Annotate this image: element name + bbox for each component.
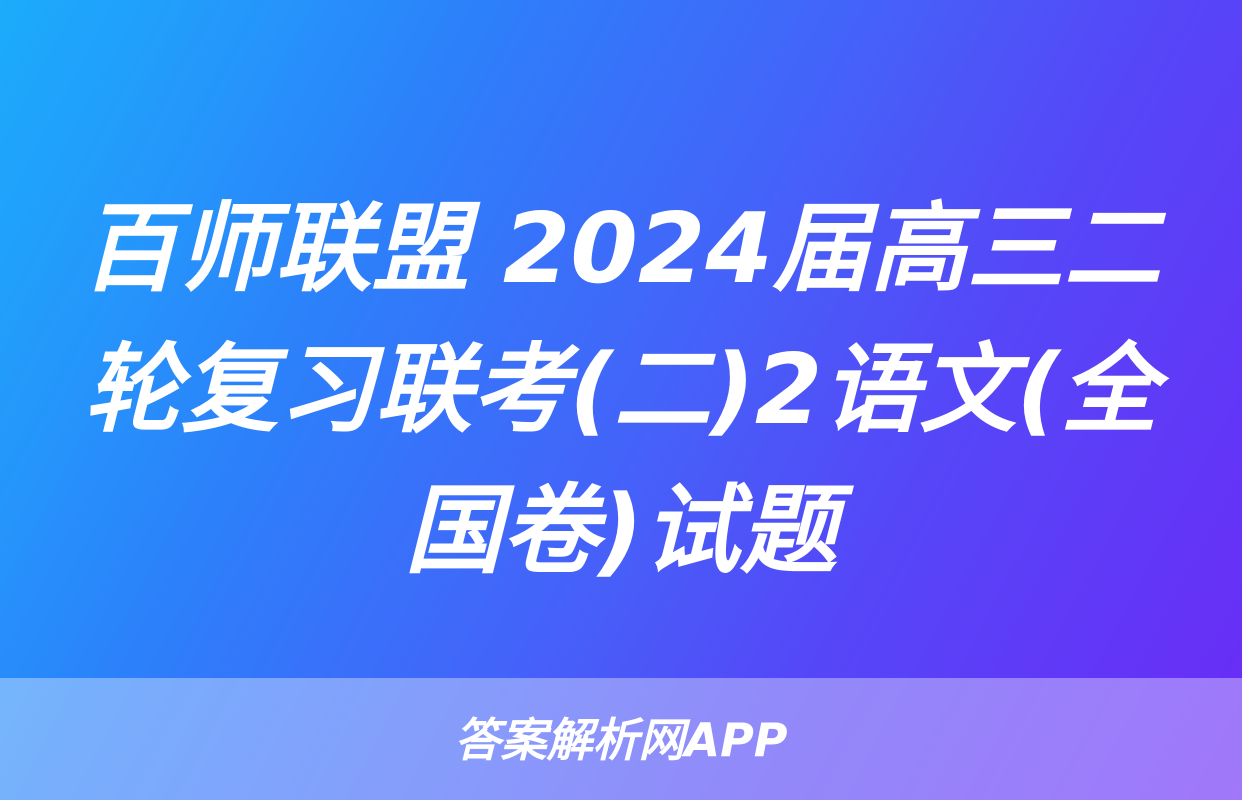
title-line-1: 百师联盟 2024届高三二 <box>46 178 1196 319</box>
poster-title: 百师联盟 2024届高三二 轮复习联考(二)2语文(全 国卷)试题 <box>0 178 1242 618</box>
app-brand-label: 答案解析网APP <box>454 717 787 763</box>
title-line-2: 轮复习联考(二)2语文(全 <box>46 319 1196 460</box>
footer-brand-band: 答案解析网APP <box>0 678 1242 800</box>
title-line-3: 国卷)试题 <box>46 460 1196 601</box>
poster-canvas: 百师联盟 2024届高三二 轮复习联考(二)2语文(全 国卷)试题 答案解析网A… <box>0 0 1242 800</box>
